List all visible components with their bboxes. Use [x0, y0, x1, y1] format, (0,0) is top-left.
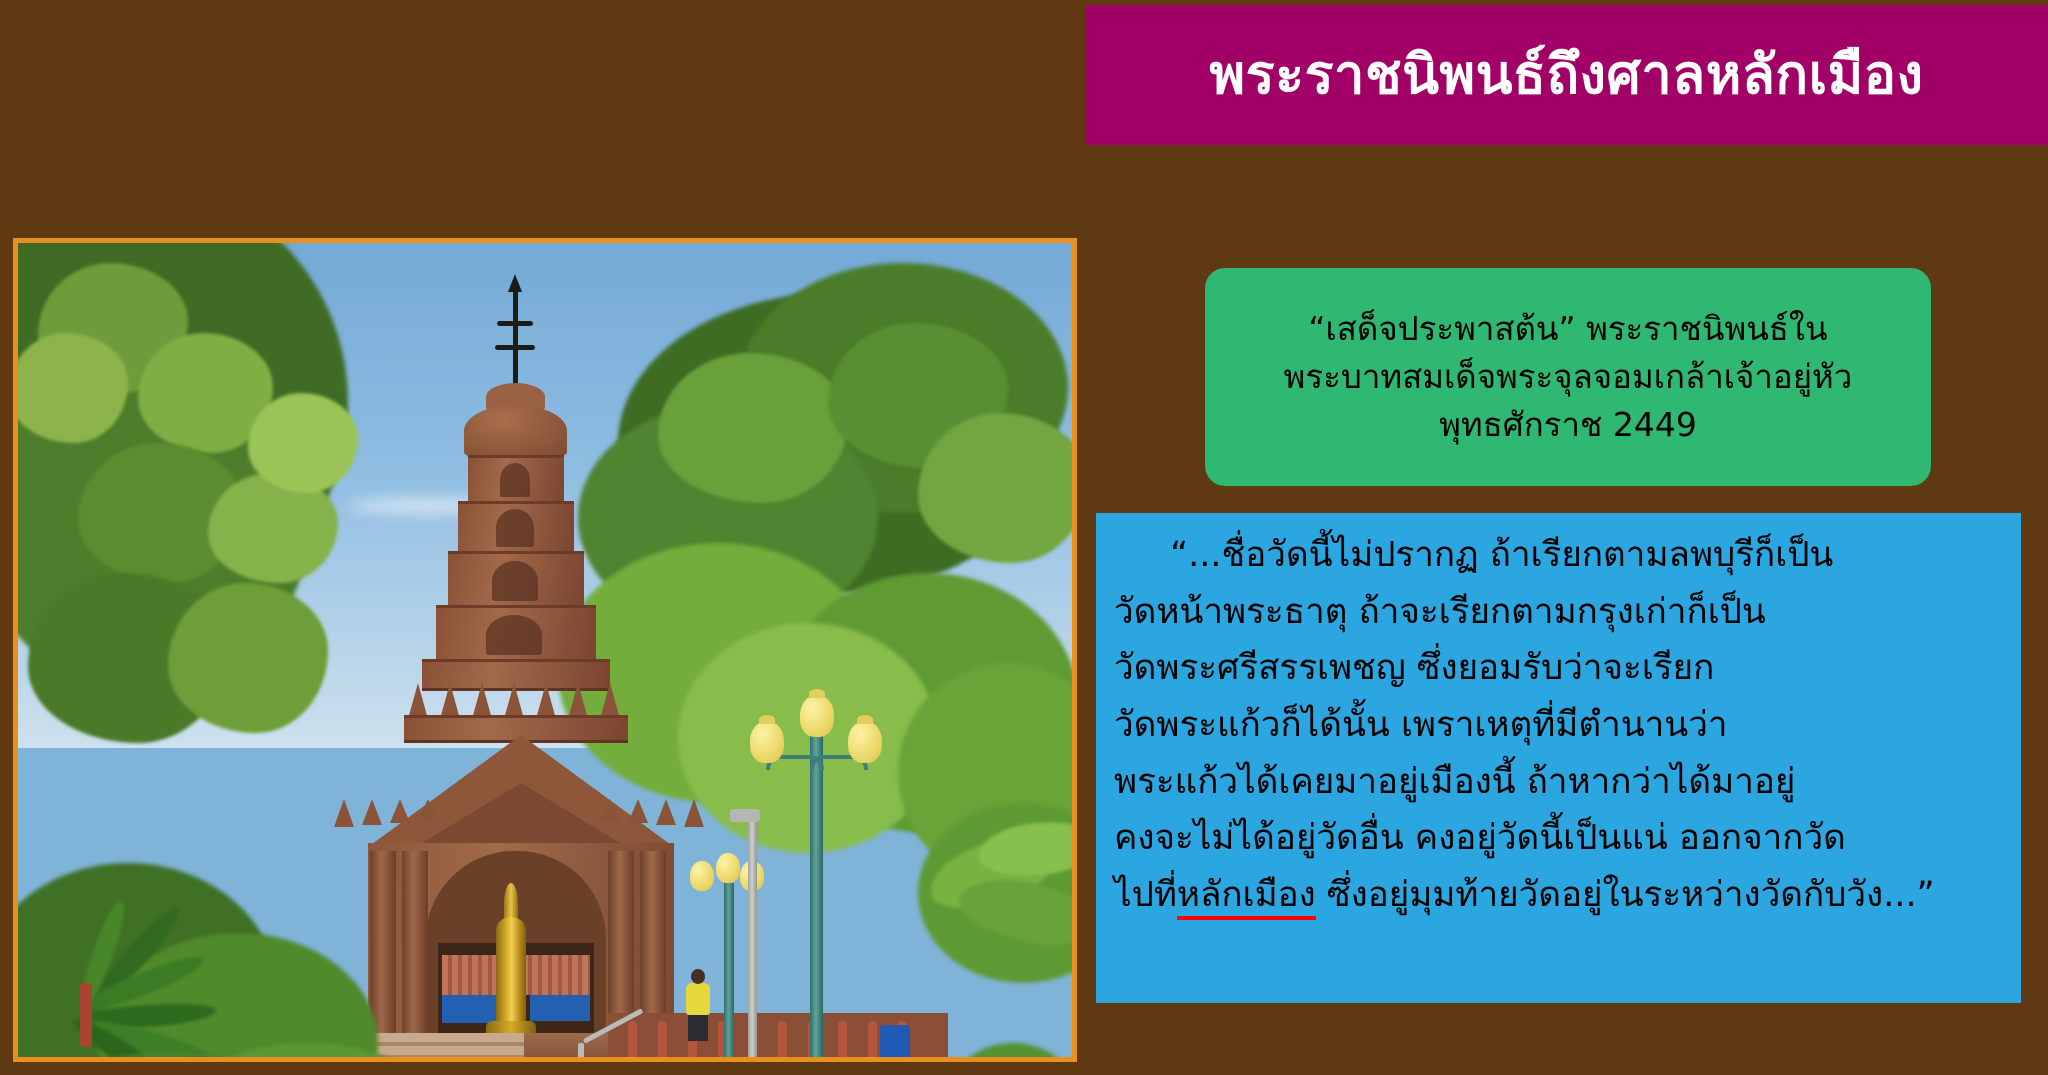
crest-spike	[408, 683, 428, 719]
pilaster-left-inner	[402, 851, 428, 1043]
leaf-cluster-6	[168, 583, 328, 733]
tier-niche-3	[492, 561, 538, 601]
crest-spike	[684, 799, 704, 827]
crest-spike	[600, 683, 620, 719]
person-legs	[688, 1013, 708, 1041]
lamp-globe-center	[800, 695, 834, 737]
crest-spike	[600, 799, 620, 821]
green-line-2: พระบาทสมเด็จพระจุลจอมเกล้าเจ้าอยู่หัว	[1284, 353, 1853, 401]
crest-spike	[536, 683, 556, 719]
page-title: พระราชนิพนธ์ถึงศาลหลักเมือง	[1210, 45, 1924, 104]
crest-row-right	[600, 799, 710, 833]
crest-spike	[504, 683, 524, 719]
crest-spike	[628, 799, 648, 823]
crest-spike	[440, 683, 460, 719]
spire-dome	[464, 405, 567, 457]
red-railing-post	[80, 983, 92, 1047]
pilaster-left-outer	[370, 851, 396, 1043]
quote-line-1: “...ชื่อวัดนี้ไม่ปรากฏ ถ้าเรียกตามลพบุรี…	[1114, 527, 2003, 584]
quote-line-2: วัดหน้าพระธาตุ ถ้าจะเรียกตามกรุงเก่าก็เป…	[1114, 584, 2003, 641]
green-line-1: “เสด็จประพาสต้น” พระราชนิพนธ์ใน	[1308, 305, 1827, 353]
blue-quote-box: “...ชื่อวัดนี้ไม่ปรากฏ ถ้าเรียกตามลพบุรี…	[1096, 513, 2021, 1003]
finial-arm-lower	[495, 345, 535, 350]
quote-line-7: ไปที่หลักเมือง ซึ่งอยู่มุมท้ายวัดอยู่ในร…	[1114, 867, 2003, 924]
blue-tarp-right	[530, 995, 590, 1021]
lamp-post-far-pole	[724, 883, 734, 1057]
crest-spike	[472, 683, 492, 719]
prang-shrine	[308, 283, 738, 1023]
street-light-head	[730, 809, 760, 822]
temple-photo-frame	[13, 238, 1077, 1062]
lamp-cap-right	[857, 715, 873, 724]
shrub-right-edge	[948, 1043, 1072, 1057]
tier-niche-4	[486, 615, 542, 655]
quote-last-before: ไปที่	[1114, 875, 1177, 915]
baluster	[658, 1021, 667, 1057]
lamp-cap-center	[809, 689, 825, 698]
baluster	[868, 1021, 877, 1057]
tier-niche-2	[496, 509, 534, 547]
quote-line-3: วัดพระศรีสรรเพชญ ซึ่งยอมรับว่าจะเรียก	[1114, 640, 2003, 697]
handrail-right	[578, 1043, 584, 1057]
person-shirt	[686, 983, 710, 1015]
lamp-post-main-pole	[810, 733, 823, 1057]
lamp-globe-far-left	[690, 861, 714, 891]
crest-spike	[390, 799, 410, 823]
quote-last-after: ซึ่งอยู่มุมท้ายวัดอยู่ในระหว่างวัดกับวัง…	[1316, 875, 1935, 915]
quote-line-4: วัดพระแก้วก็ได้นั้น เพราเหตุที่มีตำนานว่…	[1114, 697, 2003, 754]
baluster	[628, 1021, 637, 1057]
crest-spike	[568, 683, 588, 719]
lamp-globe-far-center	[716, 853, 740, 883]
baluster	[778, 1021, 787, 1057]
finial-arm-upper	[497, 321, 533, 326]
tier-niche-1	[500, 463, 530, 497]
street-light-pole	[748, 813, 757, 1057]
quote-keyword-underlined: หลักเมือง	[1177, 875, 1316, 920]
slide-canvas: พระราชนิพนธ์ถึงศาลหลักเมือง “เสด็จประพาส…	[0, 0, 2048, 1075]
lamp-cap-left	[759, 715, 775, 724]
blue-tarp-left	[442, 995, 504, 1023]
baluster	[838, 1021, 847, 1057]
quote-line-6: คงจะไม่ได้อยู่วัดอื่น คงอยู่วัดนี้เป็นแน…	[1114, 810, 2003, 867]
quote-line-5: พระแก้วได้เคยมาอยู่เมืองนี้ ถ้าหากว่าได้…	[1114, 754, 2003, 811]
lamp-globe-right	[848, 721, 882, 763]
crest-spike	[656, 799, 676, 825]
person-head	[691, 969, 705, 984]
green-line-3: พุทธศักราช 2449	[1439, 401, 1697, 449]
crest-row-left	[334, 799, 444, 833]
green-callout-box: “เสด็จประพาสต้น” พระราชนิพนธ์ใน พระบาทสม…	[1205, 268, 1931, 486]
temple-photo	[18, 243, 1072, 1057]
crest-spike	[334, 799, 354, 827]
crest-spike	[362, 799, 382, 825]
crest-spike	[418, 799, 438, 821]
finial-spike	[513, 283, 518, 387]
lamp-globe-left	[750, 721, 784, 763]
trash-bin	[880, 1025, 910, 1057]
title-banner: พระราชนิพนธ์ถึงศาลหลักเมือง	[1085, 5, 2048, 145]
